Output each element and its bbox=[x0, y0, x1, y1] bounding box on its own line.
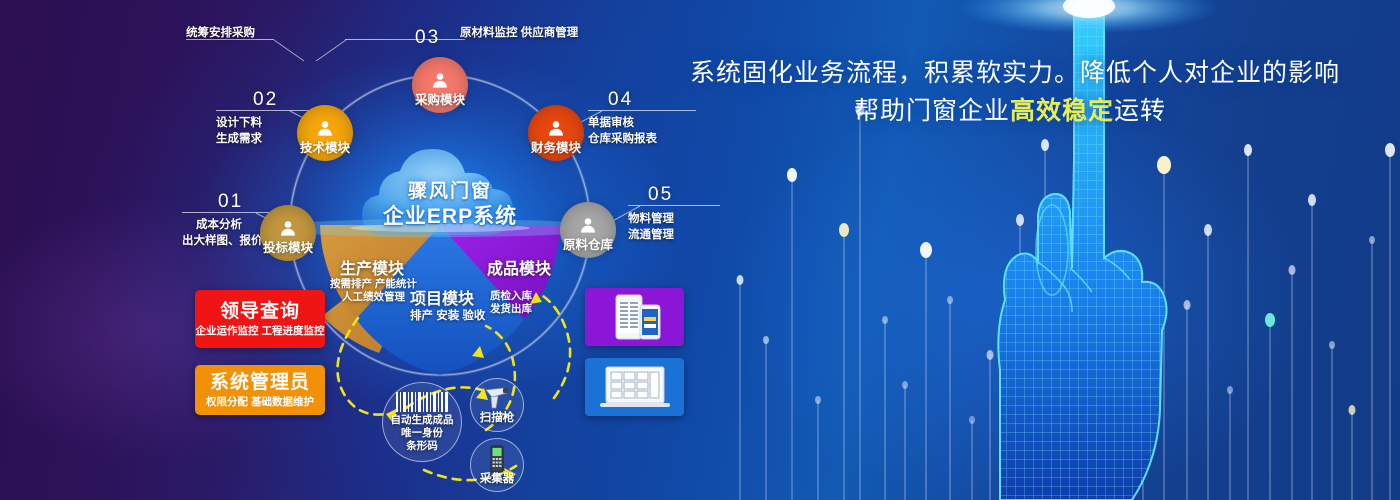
barcode-icon bbox=[396, 392, 448, 412]
node-03-purchasing[interactable]: 采购模块 bbox=[412, 57, 468, 113]
node-desc-02-b: 生成需求 bbox=[216, 132, 262, 146]
barcode-bubble-line-3: 条形码 bbox=[406, 440, 438, 453]
pie-sub-finished-2: 发货出库 bbox=[490, 303, 532, 316]
card-system-admin-sub: 权限分配 基础数据维护 bbox=[206, 395, 314, 410]
node-label-05: 原料仓库 bbox=[563, 239, 613, 252]
collector-bubble-label: 采集器 bbox=[480, 473, 515, 486]
scanner-gun-icon bbox=[482, 386, 512, 412]
pie-sub-finished-1: 质检入库 bbox=[490, 290, 532, 303]
node-desc-04-b: 仓库采购报表 bbox=[588, 132, 657, 146]
barcode-bubble-line-2: 唯一身份 bbox=[401, 427, 443, 440]
erp-module-diagram: 骤风门窗 企业ERP系统 03 统筹安排采购 原材料监控 供应商管理 采购模块 … bbox=[170, 0, 730, 500]
node-02-technology[interactable]: 技术模块 bbox=[297, 105, 353, 161]
system-name: 企业ERP系统 bbox=[170, 203, 730, 231]
rule-03-right bbox=[345, 39, 465, 40]
laptop-icon bbox=[596, 363, 674, 411]
card-system-admin[interactable]: 系统管理员 权限分配 基础数据维护 bbox=[195, 365, 325, 415]
headline-line-2-suffix: 运转 bbox=[1114, 97, 1166, 125]
headline-line-2: 帮助门窗企业高效稳定运转 bbox=[690, 92, 1330, 130]
node-number-03: 03 bbox=[415, 27, 440, 49]
scanner-bubble-label: 扫描枪 bbox=[480, 412, 515, 425]
collector-bubble[interactable]: 采集器 bbox=[470, 438, 524, 492]
node-desc-02-a: 设计下料 bbox=[216, 116, 262, 130]
barcode-bubble[interactable]: 自动生成成品 唯一身份 条形码 bbox=[382, 382, 462, 462]
center-cloud-label: 骤风门窗 企业ERP系统 bbox=[170, 176, 730, 231]
node-number-02: 02 bbox=[253, 89, 278, 111]
pie-title-finished: 成品模块 bbox=[487, 255, 551, 279]
person-icon bbox=[297, 119, 353, 141]
card-leader-query[interactable]: 领导查询 企业运作监控 工程进度监控 bbox=[195, 290, 325, 348]
smartphone-icon bbox=[600, 293, 670, 341]
brand-name: 骤风门窗 bbox=[170, 176, 730, 203]
headline-line-1: 系统固化业务流程，积累软实力。降低个人对企业的影响 bbox=[690, 54, 1330, 92]
node-desc-03-right: 原材料监控 供应商管理 bbox=[460, 26, 578, 40]
mobile-app-box[interactable] bbox=[585, 288, 684, 346]
node-04-finance[interactable]: 财务模块 bbox=[528, 105, 584, 161]
node-number-04: 04 bbox=[608, 89, 633, 111]
barcode-bubble-line-1: 自动生成成品 bbox=[391, 414, 454, 427]
card-leader-query-sub: 企业运作监控 工程进度监控 bbox=[196, 324, 325, 339]
headline-highlight: 高效稳定 bbox=[1010, 97, 1114, 125]
data-collector-icon bbox=[488, 445, 506, 473]
node-desc-03-left: 统筹安排采购 bbox=[186, 26, 255, 40]
node-label-01: 投标模块 bbox=[263, 242, 313, 255]
person-icon bbox=[528, 119, 584, 141]
erp-banner: 系统固化业务流程，积累软实力。降低个人对企业的影响 帮助门窗企业高效稳定运转 bbox=[0, 0, 1400, 500]
pie-title-project: 项目模块 bbox=[410, 285, 474, 309]
card-leader-query-title: 领导查询 bbox=[220, 300, 300, 324]
pie-sub-production-1: 按需排产 产能统计 bbox=[330, 278, 417, 291]
pie-sub-production-2: 人工绩效管理 bbox=[342, 291, 405, 304]
node-desc-01-b: 出大样图、报价 bbox=[182, 234, 263, 248]
leader-line-03 bbox=[270, 39, 350, 64]
node-label-02: 技术模块 bbox=[300, 142, 350, 155]
headline: 系统固化业务流程，积累软实力。降低个人对企业的影响 帮助门窗企业高效稳定运转 bbox=[690, 54, 1330, 130]
node-label-03: 采购模块 bbox=[415, 94, 465, 107]
desktop-app-box[interactable] bbox=[585, 358, 684, 416]
scanner-bubble[interactable]: 扫描枪 bbox=[470, 378, 524, 432]
node-desc-04-a: 单据审核 bbox=[588, 116, 634, 130]
node-label-04: 财务模块 bbox=[531, 142, 581, 155]
card-system-admin-title: 系统管理员 bbox=[210, 371, 310, 395]
headline-line-2-prefix: 帮助门窗企业 bbox=[854, 97, 1010, 125]
person-icon bbox=[412, 71, 468, 93]
pie-title-production: 生产模块 bbox=[340, 255, 404, 279]
pie-sub-project-1: 排产 安装 验收 bbox=[410, 310, 485, 323]
